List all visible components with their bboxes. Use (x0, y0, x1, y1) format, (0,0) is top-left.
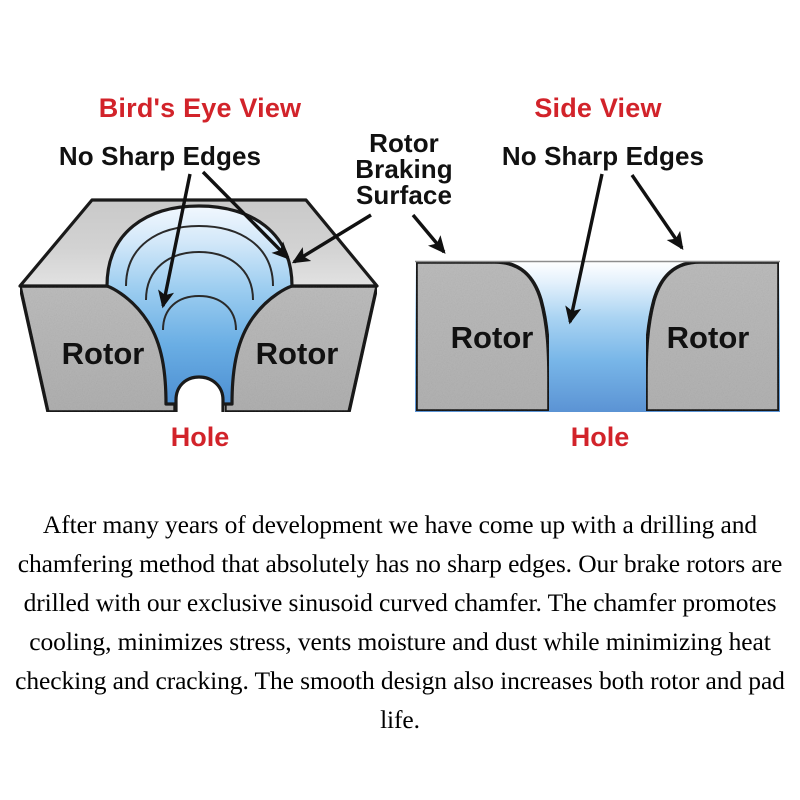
side-view-block: Rotor Rotor (415, 261, 780, 412)
arrow-no-sharp-edges-side-right (632, 175, 682, 248)
rotor-braking-surface-label: Rotor Braking Surface (355, 128, 453, 210)
side-rotor-label-left: Rotor (451, 320, 534, 355)
arrow-rotor-braking-surface-right (413, 215, 444, 252)
side-view-title: Side View (534, 93, 662, 123)
side-view-hole-label: Hole (571, 422, 630, 452)
rotor-chamfer-diagram: Bird's Eye View Side View Rotor (0, 0, 800, 500)
rotor-braking-surface-line-3: Surface (356, 180, 452, 210)
bird-eye-no-sharp-edges-label: No Sharp Edges (59, 141, 261, 171)
caption-paragraph: After many years of development we have … (0, 505, 800, 739)
bird-eye-rotor-label-left: Rotor (62, 336, 145, 371)
bird-eye-rotor-label-right: Rotor (256, 336, 339, 371)
side-view-no-sharp-edges-label: No Sharp Edges (502, 141, 704, 171)
diagram-figure-area: Bird's Eye View Side View Rotor (0, 0, 800, 500)
side-rotor-label-right: Rotor (667, 320, 750, 355)
bird-eye-hole-label: Hole (171, 422, 230, 452)
through-hole-opening (176, 377, 223, 414)
bird-eye-view-block: Rotor Rotor (20, 200, 377, 414)
bird-eye-view-title: Bird's Eye View (99, 93, 302, 123)
